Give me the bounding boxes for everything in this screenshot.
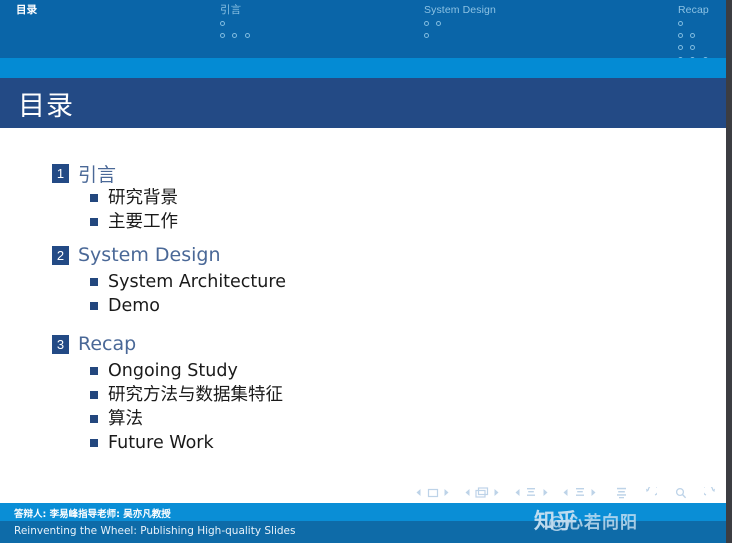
nav-dot-icon[interactable] (424, 21, 429, 26)
nav-section-contents[interactable]: 目录 (16, 0, 37, 58)
nav-dot-row (678, 31, 711, 40)
square-bullet-icon (90, 194, 98, 202)
nav-dot-icon[interactable] (678, 45, 683, 50)
toc-section: 1引言 研究背景 主要工作 (52, 160, 178, 234)
frame-icon[interactable] (475, 484, 489, 501)
toc-section-header[interactable]: 3Recap (52, 333, 283, 359)
toc-subitem-label: System Architecture (108, 270, 286, 294)
toc-subitem[interactable]: 算法 (52, 407, 283, 431)
toc-section-title: 引言 (78, 164, 116, 186)
beamer-navigation-symbols (406, 484, 716, 500)
square-bullet-icon (90, 367, 98, 375)
footer-author-text: 答辩人: 李易峰指导老师: 吴亦凡教授 (14, 506, 171, 520)
nav-section-label: 目录 (16, 0, 37, 16)
prev-slide-icon[interactable] (415, 484, 422, 501)
nav-dot-icon[interactable] (220, 33, 225, 38)
toc-section-number: 3 (52, 335, 69, 354)
nav-section-label: 引言 (220, 0, 253, 16)
next-section-icon[interactable] (590, 484, 597, 501)
toc-subitem-label: Demo (108, 294, 160, 318)
toc-section: 2System Design System Architecture Demo (52, 244, 286, 318)
toc-subitem-label: 研究背景 (108, 186, 178, 210)
square-bullet-icon (90, 302, 98, 310)
next-subsection-icon[interactable] (542, 484, 549, 501)
accent-bar (0, 58, 726, 78)
nav-dot-icon[interactable] (678, 21, 683, 26)
square-bullet-icon (90, 391, 98, 399)
square-bullet-icon (90, 415, 98, 423)
toc-section-number: 2 (52, 246, 69, 265)
toc-subitem[interactable]: Future Work (52, 431, 283, 455)
nav-section-system-design[interactable]: System Design (424, 0, 496, 58)
section-nav-group (562, 484, 597, 502)
toc-section-header[interactable]: 2System Design (52, 244, 286, 270)
subsection-icon[interactable] (525, 484, 537, 501)
prev-frame-icon[interactable] (464, 484, 471, 501)
slide-nav-group (415, 484, 450, 502)
section-icon[interactable] (574, 484, 586, 501)
page-title: 目录 (18, 84, 74, 123)
toc-subitem-label: Future Work (108, 431, 214, 455)
nav-dot-icon[interactable] (232, 33, 237, 38)
nav-dot-icon[interactable] (690, 45, 695, 50)
nav-section-recap[interactable]: Recap (678, 0, 711, 58)
toc-subitem[interactable]: Ongoing Study (52, 359, 283, 383)
document-icon[interactable] (615, 484, 628, 502)
nav-dot-row (16, 19, 37, 28)
nav-dot-row (678, 19, 711, 28)
nav-dot-icon[interactable] (245, 33, 250, 38)
toc-subitem[interactable]: System Architecture (52, 270, 286, 294)
toc-subitem[interactable]: Demo (52, 294, 286, 318)
nav-dot-icon[interactable] (424, 33, 429, 38)
viewer-background-gutter (726, 0, 732, 543)
toc-section-title: System Design (78, 244, 221, 266)
prev-section-icon[interactable] (562, 484, 569, 501)
next-frame-icon[interactable] (493, 484, 500, 501)
nav-dot-row (424, 31, 496, 40)
toc-section: 3Recap Ongoing Study 研究方法与数据集特征 算法 Futur… (52, 333, 283, 455)
footer-title-text: Reinventing the Wheel: Publishing High-q… (14, 525, 295, 537)
nav-dot-icon[interactable] (690, 33, 695, 38)
toc-subitem[interactable]: 研究背景 (52, 186, 178, 210)
toc-subitem[interactable]: 研究方法与数据集特征 (52, 383, 283, 407)
prev-subsection-icon[interactable] (514, 484, 521, 501)
toc-subitem-label: 研究方法与数据集特征 (108, 383, 283, 407)
toc-subitem-label: 主要工作 (108, 210, 178, 234)
next-slide-icon[interactable] (443, 484, 450, 501)
table-of-contents: 1引言 研究背景 主要工作 2System Design System Arch… (0, 128, 726, 498)
square-bullet-icon (90, 278, 98, 286)
toc-section-title: Recap (78, 333, 136, 355)
nav-section-label: Recap (678, 0, 711, 16)
square-bullet-icon (90, 218, 98, 226)
nav-dot-row (220, 19, 253, 28)
slide-header-navigation: 目录 引言 System Design Rec (0, 0, 726, 58)
back-icon[interactable] (645, 484, 657, 502)
presentation-slide: 目录 引言 System Design Rec (0, 0, 726, 543)
watermark-handle: @心若向阳 (548, 508, 638, 533)
subsection-nav-group (514, 484, 549, 502)
toc-subitem[interactable]: 主要工作 (52, 210, 178, 234)
toc-subitem-label: Ongoing Study (108, 359, 238, 383)
nav-section-introduction[interactable]: 引言 (220, 0, 253, 58)
square-bullet-icon (90, 439, 98, 447)
nav-dot-icon[interactable] (220, 21, 225, 26)
toc-section-header[interactable]: 1引言 (52, 160, 178, 186)
nav-dot-icon[interactable] (436, 21, 441, 26)
nav-section-label: System Design (424, 0, 496, 16)
toc-section-number: 1 (52, 164, 69, 183)
slide-title-bar: 目录 (0, 78, 726, 128)
toc-subitem-label: 算法 (108, 407, 143, 431)
nav-dot-row (424, 19, 496, 28)
zhihu-watermark: 知乎 @心若向阳 (534, 505, 724, 531)
slide-icon[interactable] (427, 484, 439, 501)
nav-dot-icon[interactable] (678, 33, 683, 38)
nav-dot-row (220, 31, 253, 40)
forward-icon[interactable] (704, 484, 716, 502)
nav-dot-row (678, 43, 711, 52)
search-icon[interactable] (675, 484, 687, 502)
frame-nav-group (464, 484, 501, 502)
